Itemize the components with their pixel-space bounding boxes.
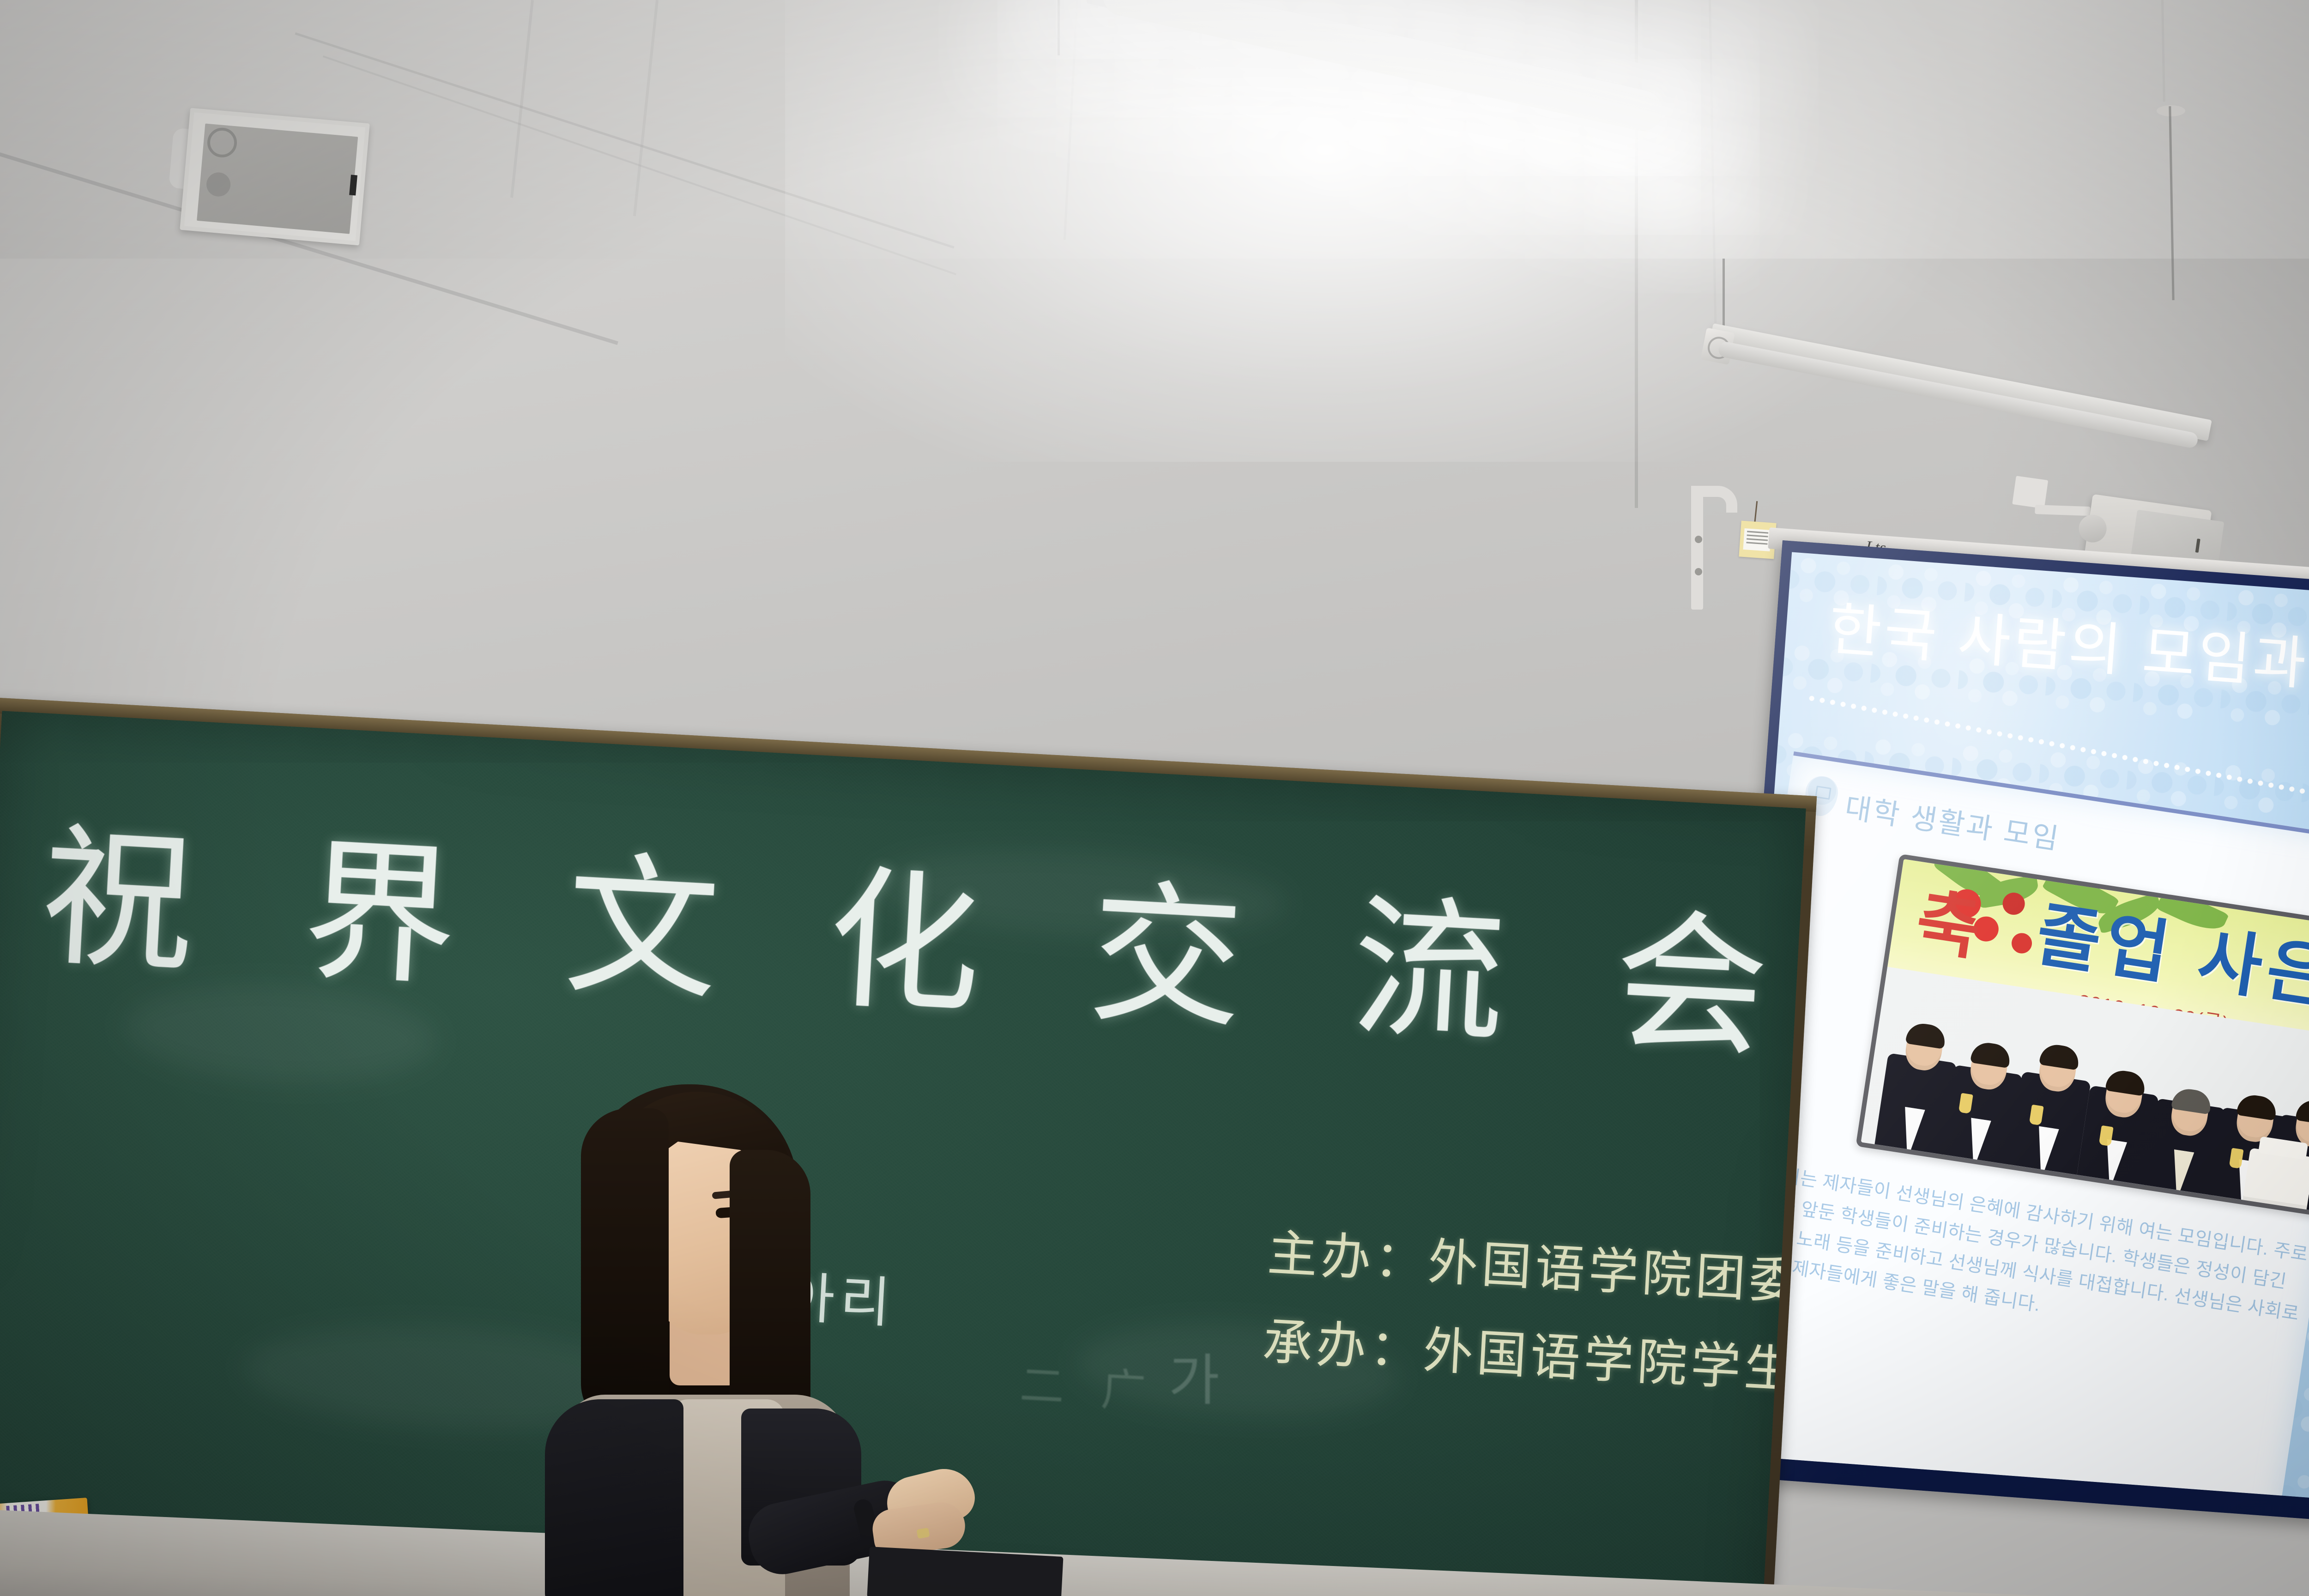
light-hanger-wire	[1723, 259, 1725, 328]
chalkboard-faint-mark: 가	[1168, 1335, 1224, 1415]
presenter-cardigan	[545, 1399, 683, 1596]
wall-speaker-icon	[180, 108, 370, 246]
bracket-screw	[1695, 536, 1702, 543]
speaker-mount	[2012, 476, 2048, 508]
chalkboard-faint-mark: 二 广	[1018, 1349, 1160, 1421]
speaker-arm	[2035, 505, 2091, 516]
screen-wall-bracket	[1681, 476, 1736, 614]
presenter-hair-side	[581, 1108, 669, 1432]
presenter-person	[531, 1076, 910, 1596]
slide-section-heading: 대학 생활과 모임	[1843, 784, 2063, 858]
cake-icon	[2242, 1148, 2309, 1213]
projection-screen: Lts 한국 사람의 모임과 만남 대학 생활과 모임	[1783, 540, 2309, 1515]
light-hanger-wire	[1058, 0, 1060, 55]
banner-mark-text: 축	[1912, 886, 1985, 964]
tag-label	[1743, 528, 1771, 551]
flower-icon	[2010, 931, 2033, 955]
slide-photo: 축 졸업 사은 2010. 10. 29(금) 서울중사직중학교	[1856, 854, 2309, 1217]
speaker-badge	[349, 175, 357, 195]
classroom-photo-scene: Lts 한국 사람의 모임과 만남 대학 생활과 모임	[0, 0, 2309, 1596]
bracket-post	[1691, 494, 1703, 610]
bracket-screw	[1695, 568, 1702, 575]
slide-surface: 한국 사람의 모임과 만남 대학 생활과 모임	[1726, 552, 2309, 1499]
speaker-box	[180, 108, 370, 246]
